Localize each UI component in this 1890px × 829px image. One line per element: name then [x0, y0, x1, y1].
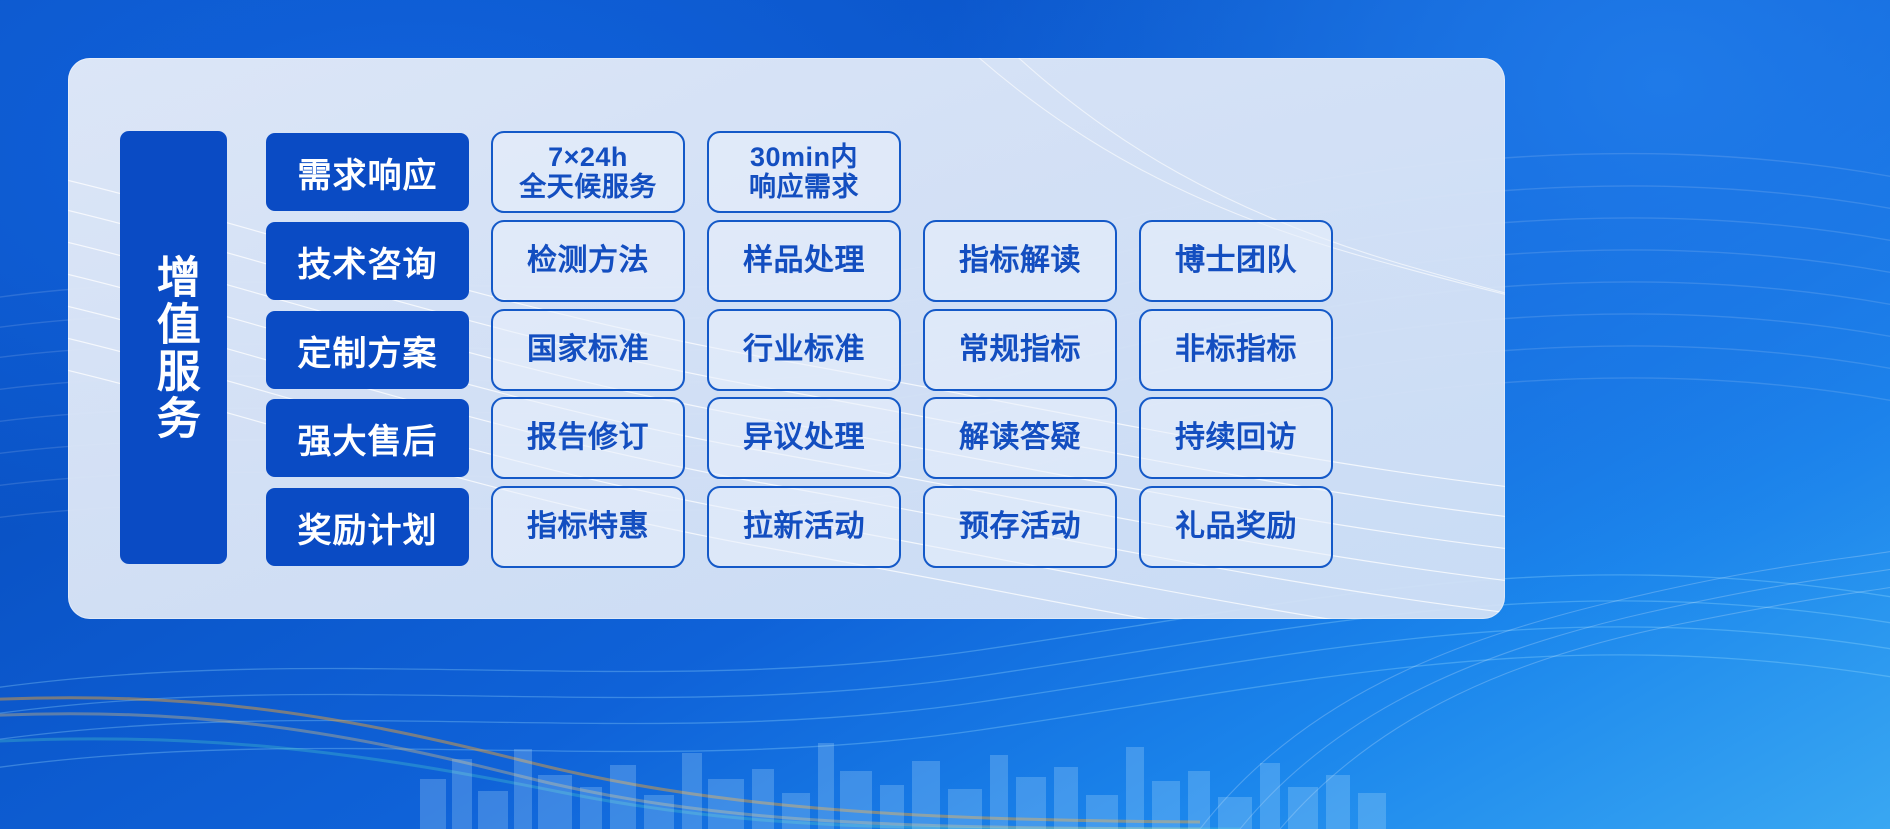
category-button[interactable]: 定制方案: [266, 311, 469, 389]
service-card[interactable]: 常规指标: [923, 309, 1117, 391]
service-card-line1: 指标特惠: [527, 510, 649, 544]
service-card-text: 样品处理: [743, 244, 865, 278]
category-button[interactable]: 奖励计划: [266, 488, 469, 566]
service-card-line1: 常规指标: [959, 333, 1081, 367]
service-card-text: 指标特惠: [527, 510, 649, 544]
service-card-line1: 持续回访: [1175, 421, 1297, 455]
service-card-text: 30min内响应需求: [749, 142, 859, 202]
service-card[interactable]: 异议处理: [707, 397, 901, 479]
category-button[interactable]: 需求响应: [266, 133, 469, 211]
service-card-line1: 异议处理: [743, 421, 865, 455]
service-card-line1: 国家标准: [527, 333, 649, 367]
service-card[interactable]: 指标解读: [923, 220, 1117, 302]
service-card[interactable]: 非标指标: [1139, 309, 1333, 391]
service-card-placeholder: [1135, 133, 1325, 211]
service-card[interactable]: 行业标准: [707, 309, 901, 391]
service-card-text: 解读答疑: [959, 421, 1081, 455]
service-card-line1: 礼品奖励: [1175, 510, 1297, 544]
service-card-line1: 指标解读: [959, 244, 1081, 278]
city-skyline-decoration: [0, 709, 1890, 829]
service-card[interactable]: 检测方法: [491, 220, 685, 302]
service-card-text: 礼品奖励: [1175, 510, 1297, 544]
category-button[interactable]: 强大售后: [266, 399, 469, 477]
service-card-text: 行业标准: [743, 333, 865, 367]
service-card-text: 检测方法: [527, 244, 649, 278]
service-card-line2: 全天候服务: [519, 172, 657, 202]
service-card-text: 拉新活动: [743, 510, 865, 544]
service-row: 定制方案国家标准行业标准常规指标非标指标: [266, 309, 1333, 391]
service-card-text: 指标解读: [959, 244, 1081, 278]
service-card-text: 7×24h全天候服务: [519, 142, 657, 202]
service-card[interactable]: 7×24h全天候服务: [491, 131, 685, 213]
service-card-text: 非标指标: [1175, 333, 1297, 367]
service-card[interactable]: 报告修订: [491, 397, 685, 479]
service-card-line1: 报告修订: [527, 421, 649, 455]
service-card-line1: 7×24h: [519, 142, 657, 172]
service-card[interactable]: 持续回访: [1139, 397, 1333, 479]
service-row: 技术咨询检测方法样品处理指标解读博士团队: [266, 220, 1333, 302]
service-card[interactable]: 博士团队: [1139, 220, 1333, 302]
service-card[interactable]: 礼品奖励: [1139, 486, 1333, 568]
service-card-line1: 拉新活动: [743, 510, 865, 544]
service-card-placeholder: [923, 133, 1113, 211]
service-card[interactable]: 样品处理: [707, 220, 901, 302]
service-card-line2: 响应需求: [749, 172, 859, 202]
side-label-value-added-services: 增值服务: [120, 131, 227, 564]
service-card-line1: 解读答疑: [959, 421, 1081, 455]
side-label-text: 增值服务: [149, 254, 197, 442]
service-card-line1: 检测方法: [527, 244, 649, 278]
service-card-line1: 非标指标: [1175, 333, 1297, 367]
service-card[interactable]: 预存活动: [923, 486, 1117, 568]
service-card-text: 国家标准: [527, 333, 649, 367]
poster-canvas: 增值服务 需求响应7×24h全天候服务30min内响应需求技术咨询检测方法样品处…: [0, 0, 1890, 829]
service-card-text: 异议处理: [743, 421, 865, 455]
service-card-line1: 博士团队: [1175, 244, 1297, 278]
service-row: 需求响应7×24h全天候服务30min内响应需求: [266, 131, 1325, 213]
service-card[interactable]: 指标特惠: [491, 486, 685, 568]
service-card-line1: 预存活动: [959, 510, 1081, 544]
service-row: 奖励计划指标特惠拉新活动预存活动礼品奖励: [266, 486, 1333, 568]
service-card-text: 常规指标: [959, 333, 1081, 367]
service-card-text: 博士团队: [1175, 244, 1297, 278]
service-card[interactable]: 30min内响应需求: [707, 131, 901, 213]
service-card-line1: 30min内: [749, 142, 859, 172]
service-card-text: 持续回访: [1175, 421, 1297, 455]
service-card-line1: 样品处理: [743, 244, 865, 278]
service-card[interactable]: 拉新活动: [707, 486, 901, 568]
service-card[interactable]: 解读答疑: [923, 397, 1117, 479]
service-row: 强大售后报告修订异议处理解读答疑持续回访: [266, 397, 1333, 479]
service-card-text: 报告修订: [527, 421, 649, 455]
service-card-line1: 行业标准: [743, 333, 865, 367]
category-button[interactable]: 技术咨询: [266, 222, 469, 300]
service-card-text: 预存活动: [959, 510, 1081, 544]
service-card[interactable]: 国家标准: [491, 309, 685, 391]
